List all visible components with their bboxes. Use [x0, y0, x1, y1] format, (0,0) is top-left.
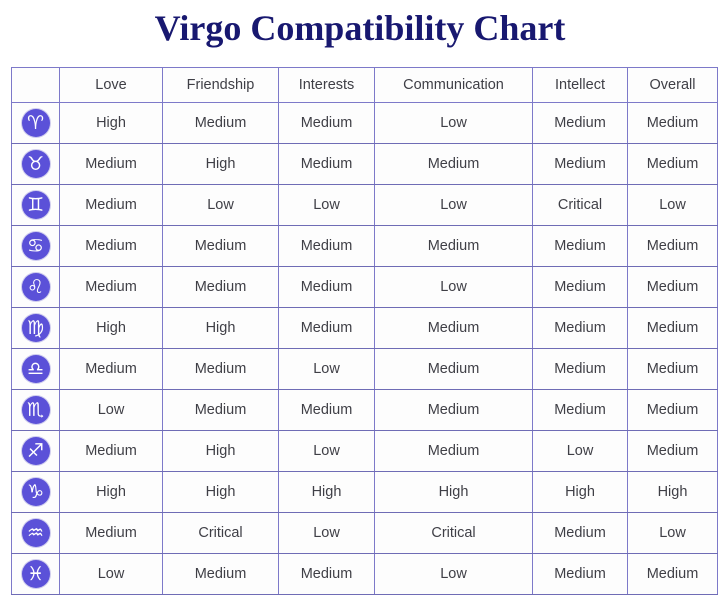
rating-cell: Medium: [533, 267, 628, 308]
sign-cell-libra: ♎: [12, 349, 60, 390]
rating-cell: Medium: [628, 554, 718, 595]
rating-cell: Low: [163, 185, 279, 226]
rating-cell: Medium: [60, 349, 163, 390]
virgo-icon: ♍: [22, 314, 50, 342]
sign-cell-pisces: ♓: [12, 554, 60, 595]
table-row: ♐MediumHighLowMediumLowMedium: [12, 431, 718, 472]
sign-cell-capricorn: ♑: [12, 472, 60, 513]
pisces-icon: ♓: [22, 560, 50, 588]
sign-cell-sagittarius: ♐: [12, 431, 60, 472]
rating-cell: Medium: [279, 308, 375, 349]
rating-cell: Medium: [279, 226, 375, 267]
sign-cell-virgo: ♍: [12, 308, 60, 349]
sign-cell-cancer: ♋: [12, 226, 60, 267]
table-row: ♉MediumHighMediumMediumMediumMedium: [12, 144, 718, 185]
aries-icon-glyph: ♈: [27, 114, 44, 133]
aquarius-icon: ♒: [22, 519, 50, 547]
column-header-communication: Communication: [375, 68, 533, 103]
rating-cell: Low: [60, 390, 163, 431]
table-row: ♊MediumLowLowLowCriticalLow: [12, 185, 718, 226]
rating-cell: Medium: [60, 226, 163, 267]
scorpio-icon-glyph: ♏: [27, 401, 44, 420]
rating-cell: High: [163, 472, 279, 513]
sign-cell-gemini: ♊: [12, 185, 60, 226]
sagittarius-icon: ♐: [22, 437, 50, 465]
rating-cell: Low: [279, 513, 375, 554]
aries-icon: ♈: [22, 109, 50, 137]
rating-cell: Medium: [628, 267, 718, 308]
rating-cell: Medium: [533, 554, 628, 595]
table-row: ♓LowMediumMediumLowMediumMedium: [12, 554, 718, 595]
rating-cell: Medium: [60, 185, 163, 226]
sign-cell-scorpio: ♏: [12, 390, 60, 431]
aquarius-icon-glyph: ♒: [27, 524, 44, 543]
gemini-icon: ♊: [22, 191, 50, 219]
pisces-icon-glyph: ♓: [27, 565, 44, 584]
rating-cell: Medium: [279, 554, 375, 595]
rating-cell: Low: [60, 554, 163, 595]
rating-cell: Low: [279, 185, 375, 226]
rating-cell: Medium: [279, 103, 375, 144]
libra-icon: ♎: [22, 355, 50, 383]
table-body: ♈HighMediumMediumLowMediumMedium♉MediumH…: [12, 103, 718, 595]
rating-cell: Medium: [533, 513, 628, 554]
rating-cell: High: [163, 431, 279, 472]
rating-cell: Medium: [628, 144, 718, 185]
rating-cell: Medium: [533, 390, 628, 431]
virgo-icon-glyph: ♍: [27, 319, 44, 338]
rating-cell: Medium: [533, 144, 628, 185]
compatibility-chart-page: Virgo Compatibility Chart Love Friendshi…: [0, 0, 720, 562]
table-row: ♑HighHighHighHighHighHigh: [12, 472, 718, 513]
rating-cell: Low: [628, 513, 718, 554]
sign-cell-taurus: ♉: [12, 144, 60, 185]
rating-cell: Medium: [163, 554, 279, 595]
column-header-friendship: Friendship: [163, 68, 279, 103]
column-header-intellect: Intellect: [533, 68, 628, 103]
rating-cell: Medium: [375, 431, 533, 472]
sagittarius-icon-glyph: ♐: [27, 442, 44, 461]
table-row: ♏LowMediumMediumMediumMediumMedium: [12, 390, 718, 431]
rating-cell: Medium: [163, 103, 279, 144]
compatibility-table-wrapper: Love Friendship Interests Communication …: [11, 67, 709, 595]
rating-cell: High: [279, 472, 375, 513]
rating-cell: Medium: [279, 390, 375, 431]
rating-cell: Low: [628, 185, 718, 226]
rating-cell: Medium: [375, 226, 533, 267]
page-title: Virgo Compatibility Chart: [0, 2, 720, 54]
rating-cell: Medium: [628, 226, 718, 267]
rating-cell: Low: [375, 103, 533, 144]
rating-cell: Low: [533, 431, 628, 472]
libra-icon-glyph: ♎: [27, 360, 44, 379]
table-row: ♈HighMediumMediumLowMediumMedium: [12, 103, 718, 144]
rating-cell: Low: [279, 431, 375, 472]
rating-cell: Medium: [533, 226, 628, 267]
rating-cell: Medium: [375, 308, 533, 349]
column-header-love: Love: [60, 68, 163, 103]
rating-cell: High: [375, 472, 533, 513]
capricorn-icon: ♑: [22, 478, 50, 506]
rating-cell: Critical: [375, 513, 533, 554]
rating-cell: Medium: [375, 349, 533, 390]
rating-cell: Medium: [279, 267, 375, 308]
compatibility-table: Love Friendship Interests Communication …: [11, 67, 718, 595]
rating-cell: Medium: [628, 390, 718, 431]
taurus-icon: ♉: [22, 150, 50, 178]
rating-cell: Medium: [60, 513, 163, 554]
sign-cell-aquarius: ♒: [12, 513, 60, 554]
cancer-icon-glyph: ♋: [27, 237, 44, 256]
table-header: Love Friendship Interests Communication …: [12, 68, 718, 103]
taurus-icon-glyph: ♉: [27, 155, 44, 174]
rating-cell: Medium: [628, 431, 718, 472]
leo-icon-glyph: ♌: [27, 278, 44, 297]
rating-cell: Medium: [60, 144, 163, 185]
rating-cell: High: [163, 144, 279, 185]
leo-icon: ♌: [22, 273, 50, 301]
rating-cell: Medium: [533, 308, 628, 349]
capricorn-icon-glyph: ♑: [27, 483, 44, 502]
rating-cell: Low: [375, 185, 533, 226]
cancer-icon: ♋: [22, 232, 50, 260]
rating-cell: Medium: [163, 267, 279, 308]
rating-cell: High: [163, 308, 279, 349]
table-row: ♌MediumMediumMediumLowMediumMedium: [12, 267, 718, 308]
sign-cell-leo: ♌: [12, 267, 60, 308]
rating-cell: High: [533, 472, 628, 513]
table-header-row: Love Friendship Interests Communication …: [12, 68, 718, 103]
rating-cell: Medium: [163, 226, 279, 267]
table-row: ♎MediumMediumLowMediumMediumMedium: [12, 349, 718, 390]
rating-cell: Medium: [163, 390, 279, 431]
column-header-interests: Interests: [279, 68, 375, 103]
rating-cell: Medium: [60, 267, 163, 308]
rating-cell: High: [60, 472, 163, 513]
column-header-overall: Overall: [628, 68, 718, 103]
rating-cell: Low: [375, 554, 533, 595]
table-row: ♍HighHighMediumMediumMediumMedium: [12, 308, 718, 349]
rating-cell: Medium: [375, 390, 533, 431]
rating-cell: High: [60, 103, 163, 144]
rating-cell: Critical: [533, 185, 628, 226]
rating-cell: High: [628, 472, 718, 513]
rating-cell: Medium: [628, 308, 718, 349]
rating-cell: Low: [375, 267, 533, 308]
rating-cell: Medium: [628, 349, 718, 390]
rating-cell: High: [60, 308, 163, 349]
rating-cell: Medium: [163, 349, 279, 390]
rating-cell: Medium: [279, 144, 375, 185]
rating-cell: Medium: [533, 349, 628, 390]
sign-cell-aries: ♈: [12, 103, 60, 144]
rating-cell: Low: [279, 349, 375, 390]
gemini-icon-glyph: ♊: [27, 196, 44, 215]
rating-cell: Medium: [60, 431, 163, 472]
scorpio-icon: ♏: [22, 396, 50, 424]
table-row: ♒MediumCriticalLowCriticalMediumLow: [12, 513, 718, 554]
rating-cell: Medium: [375, 144, 533, 185]
rating-cell: Medium: [628, 103, 718, 144]
rating-cell: Critical: [163, 513, 279, 554]
column-header-sign: [12, 68, 60, 103]
table-row: ♋MediumMediumMediumMediumMediumMedium: [12, 226, 718, 267]
rating-cell: Medium: [533, 103, 628, 144]
